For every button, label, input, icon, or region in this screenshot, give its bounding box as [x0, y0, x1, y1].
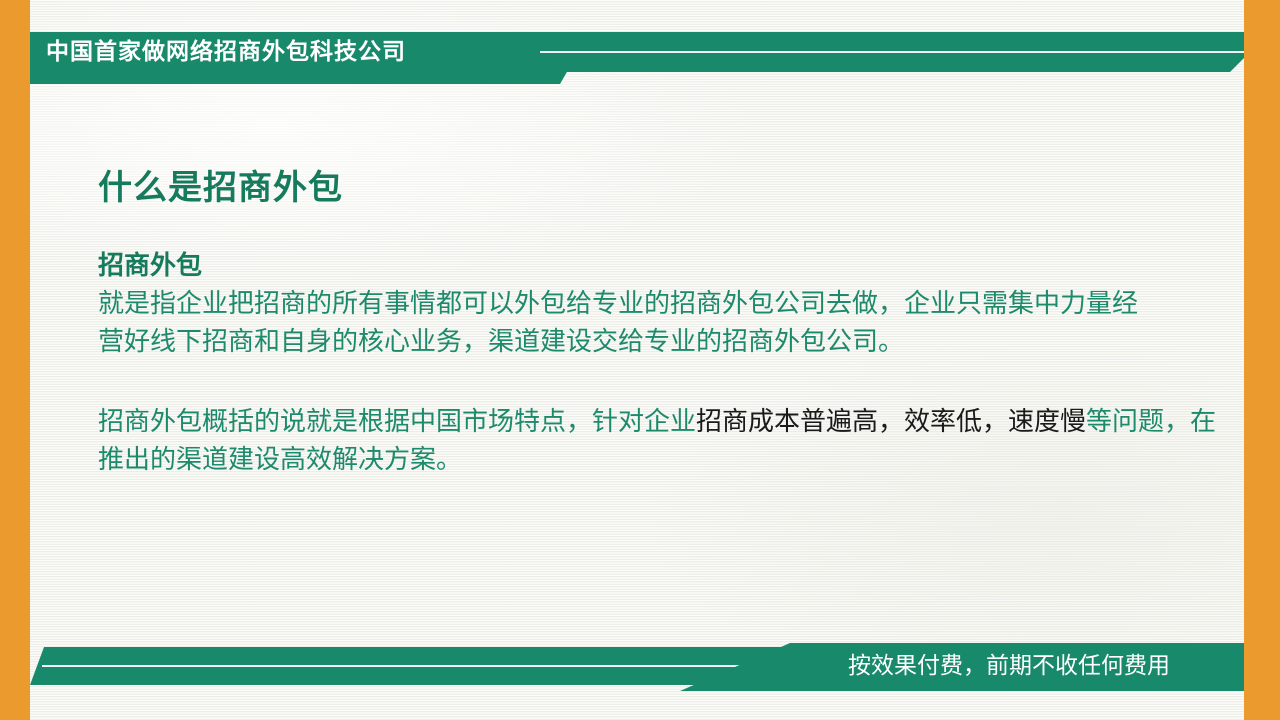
header-divider-line	[540, 51, 1244, 53]
header-title: 中国首家做网络招商外包科技公司	[46, 36, 406, 68]
definition-paragraph: 就是指企业把招商的所有事情都可以外包给专业的招商外包公司去做，企业只需集中力量经…	[98, 285, 1158, 361]
footer-divider-line	[42, 665, 774, 667]
header-banner: 中国首家做网络招商外包科技公司	[30, 32, 1244, 84]
summary-text-highlight: 招商成本普遍高，效率低，速度慢	[696, 407, 1086, 437]
footer-banner: 按效果付费，前期不收任何费用	[30, 643, 1244, 695]
summary-paragraph: 招商外包概括的说就是根据中国市场特点，针对企业招商成本普遍高，效率低，速度慢等问…	[98, 403, 1223, 479]
page-title: 什么是招商外包	[98, 165, 1228, 211]
footer-slogan: 按效果付费，前期不收任何费用	[848, 649, 1170, 683]
definition-term: 招商外包	[98, 249, 1228, 283]
summary-text-lead: 招商外包概括的说就是根据中国市场特点，针对企业	[98, 407, 696, 437]
slide-root: 中国首家做网络招商外包科技公司 什么是招商外包 招商外包 就是指企业把招商的所有…	[0, 0, 1280, 720]
main-content: 什么是招商外包 招商外包 就是指企业把招商的所有事情都可以外包给专业的招商外包公…	[98, 165, 1228, 479]
